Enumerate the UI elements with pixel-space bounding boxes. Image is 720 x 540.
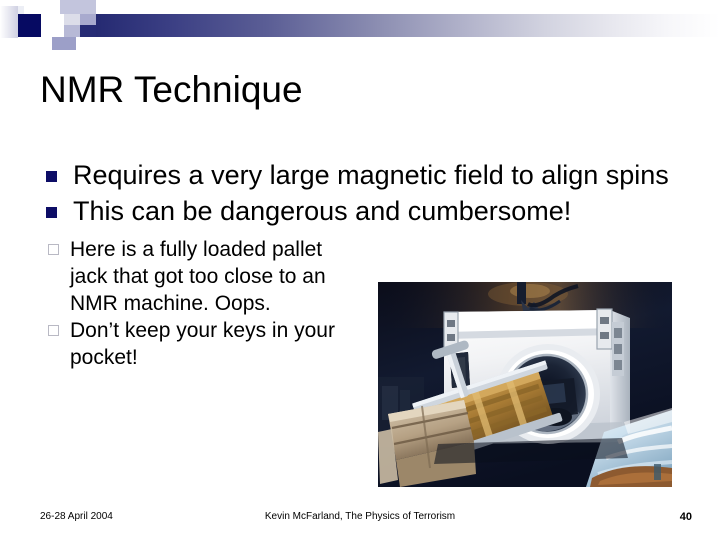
slide-title: NMR Technique [40,68,660,112]
deco-square [80,0,96,14]
deco-square-dark [18,14,41,37]
deco-square [18,6,24,14]
hollow-square-bullet-icon [40,317,70,336]
sub-bullet-text: Here is a fully loaded pallet jack that … [70,236,340,317]
hollow-square-bullet-icon [40,236,70,255]
page-number: 40 [680,508,692,526]
footer-attribution: Kevin McFarland, The Physics of Terroris… [0,508,720,526]
filled-square-bullet-icon [40,194,73,218]
filled-square-bullet-icon [40,158,73,182]
sub-bullet-item: Don’t keep your keys in your pocket! [40,317,340,371]
deco-square [0,6,18,38]
slide: NMR Technique Requires a very large magn… [0,0,720,540]
nmr-accident-photo [378,282,672,487]
slide-footer: 26-28 April 2004 Kevin McFarland, The Ph… [0,508,720,530]
header-decoration [0,0,720,46]
deco-square [80,25,96,37]
sub-bullet-item: Here is a fully loaded pallet jack that … [40,236,340,317]
bullet-item: Requires a very large magnetic field to … [40,158,670,192]
sub-bullet-list: Here is a fully loaded pallet jack that … [40,236,340,371]
bullet-text: This can be dangerous and cumbersome! [73,194,670,228]
bullet-text: Requires a very large magnetic field to … [73,158,670,192]
deco-square [52,37,76,50]
sub-bullet-text: Don’t keep your keys in your pocket! [70,317,340,371]
deco-square [80,14,96,25]
bullet-item: This can be dangerous and cumbersome! [40,194,670,228]
gradient-bar [96,14,720,37]
deco-square [60,0,80,14]
deco-square [41,14,64,37]
